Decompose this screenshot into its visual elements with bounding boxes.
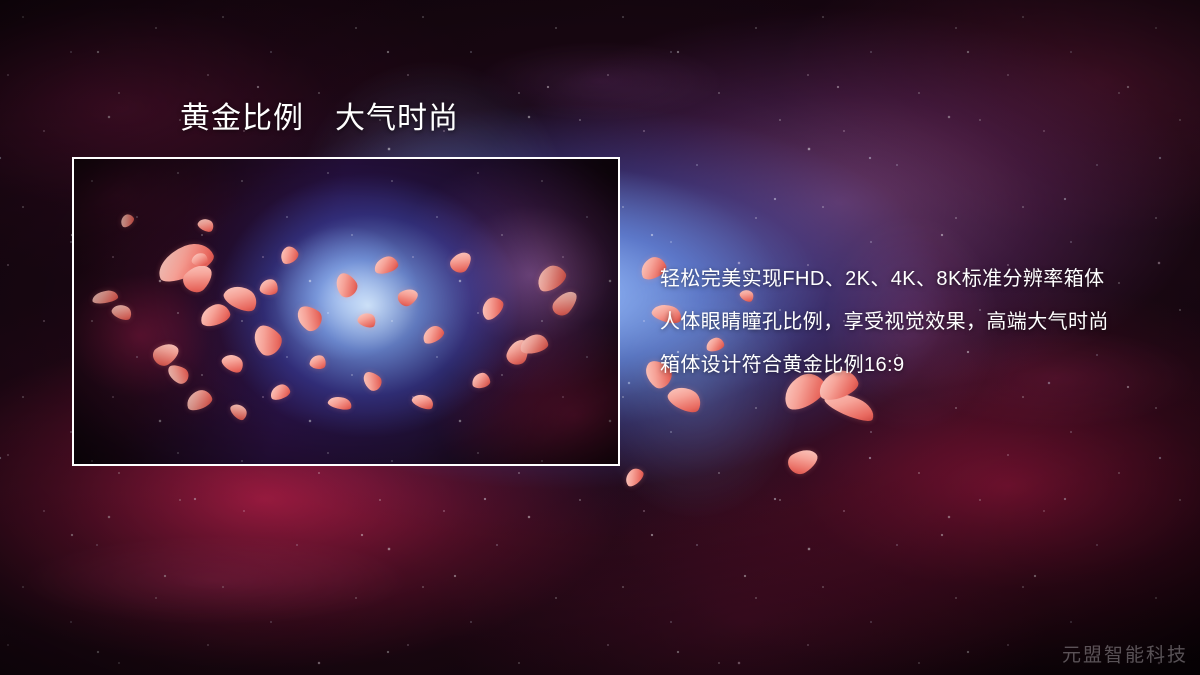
petal xyxy=(622,465,646,489)
framed-picture xyxy=(72,157,620,466)
body-line-1: 轻松完美实现FHD、2K、4K、8K标准分辨率箱体 xyxy=(660,258,1180,301)
body-text-block: 轻松完美实现FHD、2K、4K、8K标准分辨率箱体 人体眼睛瞳孔比例，享受视觉效… xyxy=(660,258,1180,387)
body-line-2: 人体眼睛瞳孔比例，享受视觉效果，高端大气时尚 xyxy=(660,301,1180,344)
slide-title: 黄金比例 大气时尚 xyxy=(180,102,459,136)
petal xyxy=(822,386,878,425)
petal xyxy=(784,444,821,479)
picture-vignette xyxy=(74,159,618,464)
body-line-3: 箱体设计符合黄金比例16:9 xyxy=(660,344,1180,387)
watermark: 元盟智能科技 xyxy=(1062,640,1188,667)
presentation-slide: 黄金比例 大气时尚 xyxy=(0,0,1200,675)
